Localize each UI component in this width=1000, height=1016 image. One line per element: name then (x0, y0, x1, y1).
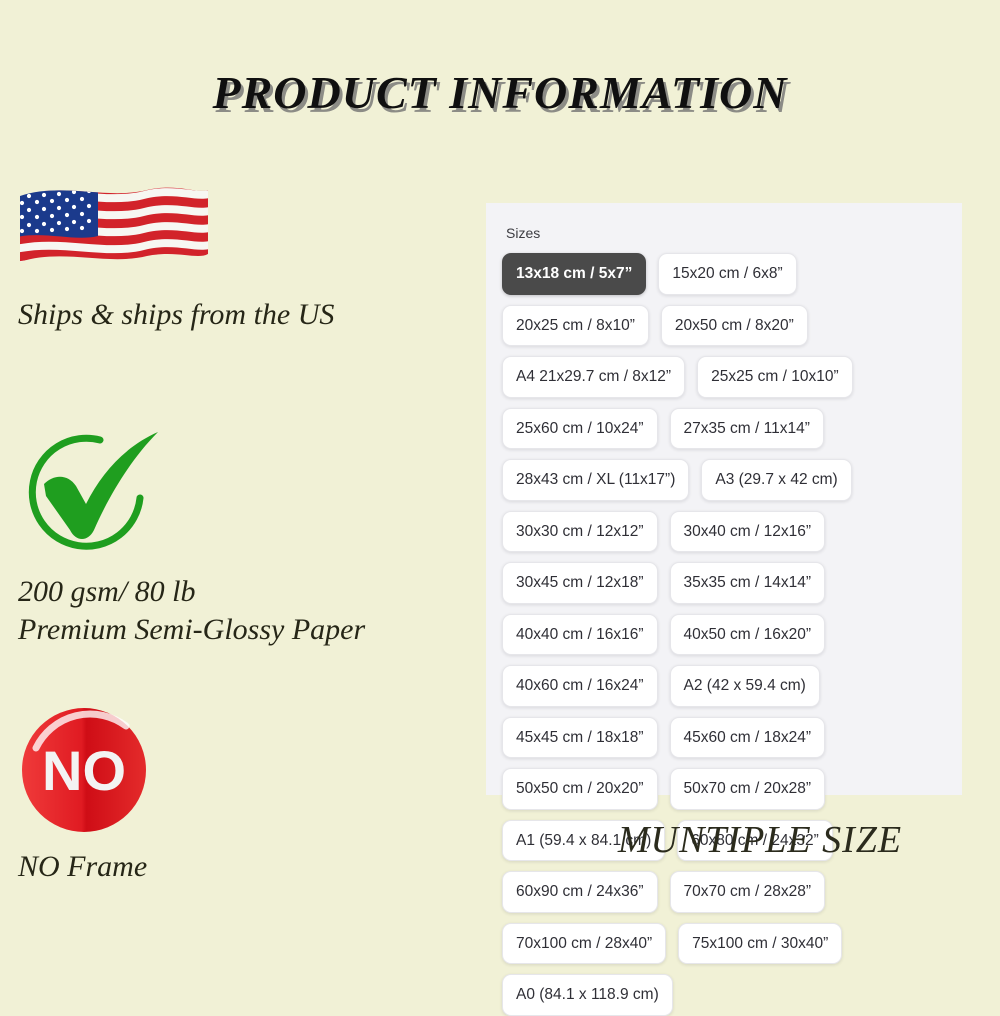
feature-ships-from-us-label: Ships & ships from the US (18, 296, 470, 334)
size-option-chip[interactable]: 45x45 cm / 18x18” (502, 717, 658, 759)
sizes-panel: Sizes 13x18 cm / 5x7”15x20 cm / 6x8”20x2… (486, 203, 962, 795)
size-option-chip[interactable]: A4 21x29.7 cm / 8x12” (502, 356, 685, 398)
size-option-chip[interactable]: 40x50 cm / 16x20” (670, 614, 826, 656)
size-option-chip[interactable]: 27x35 cm / 11x14” (670, 408, 824, 450)
size-option-chip[interactable]: 35x35 cm / 14x14” (670, 562, 826, 604)
feature-no-frame: NO NO Frame (0, 700, 470, 886)
size-option-chip[interactable]: 40x40 cm / 16x16” (502, 614, 658, 656)
size-option-chip[interactable]: A2 (42 x 59.4 cm) (670, 665, 820, 707)
size-option-chip[interactable]: 30x30 cm / 12x12” (502, 511, 658, 553)
size-option-chip[interactable]: 50x50 cm / 20x20” (502, 768, 658, 810)
paper-weight-line: 200 gsm/ 80 lb (18, 573, 470, 611)
size-option-chip[interactable]: 70x70 cm / 28x28” (670, 871, 826, 913)
size-option-chip[interactable]: 20x50 cm / 8x20” (661, 305, 808, 347)
sizes-label: Sizes (506, 225, 946, 241)
size-option-chip[interactable]: 13x18 cm / 5x7” (502, 253, 646, 295)
size-option-chip[interactable]: 50x70 cm / 20x28” (670, 768, 826, 810)
paper-type-line: Premium Semi-Glossy Paper (18, 611, 470, 649)
size-option-chip[interactable]: 45x60 cm / 18x24” (670, 717, 826, 759)
svg-text:NO: NO (42, 739, 126, 802)
size-option-chip[interactable]: 28x43 cm / XL (11x17”) (502, 459, 689, 501)
size-option-chip[interactable]: 15x20 cm / 6x8” (658, 253, 796, 295)
size-option-chip[interactable]: A0 (84.1 x 118.9 cm) (502, 974, 673, 1016)
size-option-chip[interactable]: 60x90 cm / 24x36” (502, 871, 658, 913)
feature-ships-from-us: Ships & ships from the US (0, 180, 470, 334)
size-option-chip[interactable]: 20x25 cm / 8x10” (502, 305, 649, 347)
size-option-chip[interactable]: 25x60 cm / 10x24” (502, 408, 658, 450)
us-flag-icon (12, 180, 212, 288)
multiple-size-caption: MUNTIPLE SIZE (560, 818, 960, 862)
feature-paper-quality-label: 200 gsm/ 80 lb Premium Semi-Glossy Paper (18, 573, 470, 650)
size-option-chip[interactable]: 25x25 cm / 10x10” (697, 356, 853, 398)
size-option-chip[interactable]: 40x60 cm / 16x24” (502, 665, 658, 707)
size-option-chip[interactable]: 70x100 cm / 28x40” (502, 923, 666, 965)
size-option-chip[interactable]: A3 (29.7 x 42 cm) (701, 459, 851, 501)
green-check-icon (14, 420, 174, 565)
size-option-chip[interactable]: 75x100 cm / 30x40” (678, 923, 842, 965)
page-title: PRODUCT INFORMATION (0, 66, 1000, 119)
no-prohibition-badge-icon: NO (14, 700, 154, 840)
feature-paper-quality: 200 gsm/ 80 lb Premium Semi-Glossy Paper (0, 420, 470, 650)
size-option-chip[interactable]: 30x40 cm / 12x16” (670, 511, 826, 553)
size-option-list: 13x18 cm / 5x7”15x20 cm / 6x8”20x25 cm /… (502, 253, 946, 1016)
feature-no-frame-label: NO Frame (18, 848, 470, 886)
size-option-chip[interactable]: 30x45 cm / 12x18” (502, 562, 658, 604)
